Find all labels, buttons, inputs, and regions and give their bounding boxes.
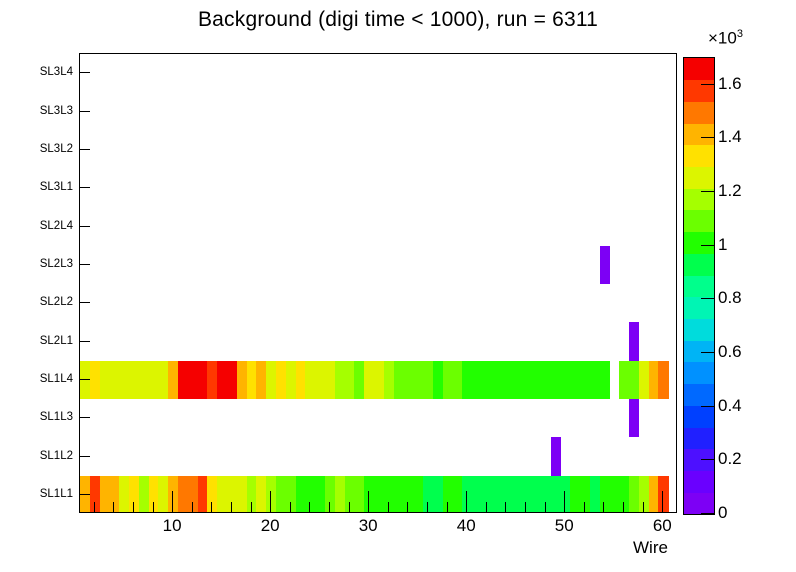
color-scale-band (684, 319, 714, 341)
heatmap-cell (237, 361, 247, 399)
heatmap-cell (492, 361, 502, 399)
heatmap-cell (511, 476, 521, 512)
y-axis-label-sl2l4: SL2L4 (3, 220, 73, 232)
heatmap-cell (188, 476, 198, 512)
heatmap-cell (296, 361, 306, 399)
heatmap-cell (639, 361, 649, 399)
heatmap-cell (502, 361, 512, 399)
heatmap-cell (315, 361, 325, 399)
heatmap-cell (374, 476, 384, 512)
y-axis-tick (79, 264, 90, 265)
heatmap-cell (600, 361, 610, 399)
heatmap-cell (443, 476, 453, 512)
heatmap-cell (256, 476, 266, 512)
heatmap-cell (100, 476, 110, 512)
x-axis-minor-tick (584, 502, 585, 513)
y-axis-label-sl3l1: SL3L1 (3, 181, 73, 193)
heatmap-cell (619, 476, 629, 512)
y-axis-tick (79, 417, 90, 418)
color-scale-label-0.8: 0.8 (718, 288, 742, 308)
heatmap-cell (217, 476, 227, 512)
x-axis-minor-tick (329, 502, 330, 513)
heatmap-cell (354, 361, 364, 399)
heatmap-cell (423, 476, 433, 512)
y-axis-tick (79, 379, 90, 380)
heatmap-cell (570, 476, 580, 512)
y-axis-label-sl1l4: SL1L4 (3, 373, 73, 385)
color-scale-bar (683, 57, 715, 515)
y-axis-tick (79, 494, 90, 495)
x-axis-minor-tick (251, 502, 252, 513)
heatmap-cell (521, 476, 531, 512)
heatmap-cell (315, 476, 325, 512)
z-exponent-label: ×103 (708, 28, 743, 49)
y-axis-tick (79, 226, 90, 227)
x-axis-minor-tick (427, 502, 428, 513)
color-scale-tick (701, 191, 714, 192)
heatmap-cell (433, 361, 443, 399)
color-scale-band (684, 471, 714, 493)
color-scale-tick (701, 137, 714, 138)
color-scale-band (684, 384, 714, 406)
color-scale-tick (701, 245, 714, 246)
x-axis-minor-tick (486, 502, 487, 513)
x-axis-minor-tick (192, 502, 193, 513)
heatmap-cell (629, 322, 639, 360)
heatmap-cell (560, 361, 570, 399)
color-scale-tick (701, 352, 714, 353)
heatmap-cell (649, 476, 659, 512)
heatmap-cell (404, 361, 414, 399)
x-axis-major-tick (368, 491, 369, 513)
heatmap-cell (276, 476, 286, 512)
color-scale-band (684, 123, 714, 145)
plot-frame (79, 53, 677, 513)
heatmap-cell (658, 361, 668, 399)
heatmap-cell (158, 361, 168, 399)
heatmap-cell (629, 361, 639, 399)
x-axis-minor-tick (603, 502, 604, 513)
heatmap-cell (502, 476, 512, 512)
y-axis-tick (79, 111, 90, 112)
heatmap-cell (345, 476, 355, 512)
heatmap-cell (227, 361, 237, 399)
heatmap-cell (305, 361, 315, 399)
heatmap-cell (443, 361, 453, 399)
color-scale-label-0.4: 0.4 (718, 396, 742, 416)
color-scale-tick (701, 298, 714, 299)
heatmap-cell (158, 476, 168, 512)
heatmap-cell (188, 361, 198, 399)
heatmap-cell (256, 361, 266, 399)
heatmap-cell (639, 476, 649, 512)
heatmap-cell (266, 476, 276, 512)
color-scale-band (684, 427, 714, 449)
heatmap-cell (462, 476, 472, 512)
heatmap-cell (541, 476, 551, 512)
color-scale-tick (701, 406, 714, 407)
heatmap-cell (305, 476, 315, 512)
heatmap-cell (492, 476, 502, 512)
x-axis-label-30: 30 (343, 516, 393, 536)
x-axis-minor-tick (94, 502, 95, 513)
heatmap-cell (619, 361, 629, 399)
heatmap-cell (560, 476, 570, 512)
heatmap-cell (168, 361, 178, 399)
heatmap-cell (149, 361, 159, 399)
heatmap-cells (80, 54, 676, 512)
color-scale-band (684, 405, 714, 427)
color-scale-band (684, 275, 714, 297)
heatmap-cell (629, 399, 639, 437)
heatmap-cell (629, 476, 639, 512)
x-axis-major-tick (466, 491, 467, 513)
heatmap-cell (119, 361, 129, 399)
plot-canvas: Background (digi time < 1000), run = 631… (0, 0, 796, 572)
color-scale-label-1.6: 1.6 (718, 74, 742, 94)
color-scale-label-1: 1 (718, 235, 727, 255)
heatmap-cell (266, 361, 276, 399)
heatmap-cell (207, 361, 217, 399)
heatmap-cell (129, 476, 139, 512)
heatmap-cell (521, 361, 531, 399)
y-axis-tick (79, 72, 90, 73)
x-axis-minor-tick (153, 502, 154, 513)
x-axis-minor-tick (231, 502, 232, 513)
y-axis-tick (79, 302, 90, 303)
heatmap-cell (609, 476, 619, 512)
heatmap-cell (139, 476, 149, 512)
heatmap-cell (541, 361, 551, 399)
heatmap-cell (90, 476, 100, 512)
heatmap-cell (139, 361, 149, 399)
heatmap-cell (590, 361, 600, 399)
heatmap-cell (374, 361, 384, 399)
x-axis-minor-tick (133, 502, 134, 513)
heatmap-cell (600, 476, 610, 512)
color-scale-tick (701, 513, 714, 514)
heatmap-cell (404, 476, 414, 512)
heatmap-cell (178, 361, 188, 399)
heatmap-cell (286, 476, 296, 512)
y-axis-label-sl3l3: SL3L3 (3, 105, 73, 117)
heatmap-cell (325, 476, 335, 512)
heatmap-cell (413, 361, 423, 399)
y-axis-tick (79, 341, 90, 342)
x-axis-minor-tick (388, 502, 389, 513)
x-axis-minor-tick (309, 502, 310, 513)
heatmap-cell (384, 361, 394, 399)
x-axis-minor-tick (113, 502, 114, 513)
x-axis-major-tick (662, 491, 663, 513)
color-scale-label-1.2: 1.2 (718, 181, 742, 201)
heatmap-cell (531, 361, 541, 399)
color-scale-band (684, 210, 714, 232)
heatmap-cell (649, 361, 659, 399)
color-scale-label-0: 0 (718, 503, 727, 523)
y-axis-label-sl2l3: SL2L3 (3, 258, 73, 270)
heatmap-cell (90, 361, 100, 399)
y-axis-label-sl3l2: SL3L2 (3, 143, 73, 155)
heatmap-cell (149, 476, 159, 512)
heatmap-cell (482, 476, 492, 512)
heatmap-cell (296, 476, 306, 512)
heatmap-cell (178, 476, 188, 512)
y-axis-label-sl1l3: SL1L3 (3, 411, 73, 423)
heatmap-cell (364, 476, 374, 512)
heatmap-cell (453, 361, 463, 399)
color-scale-band (684, 253, 714, 275)
heatmap-cell (394, 476, 404, 512)
chart-title: Background (digi time < 1000), run = 631… (0, 8, 796, 32)
heatmap-cell (511, 361, 521, 399)
heatmap-cell (119, 476, 129, 512)
heatmap-cell (345, 361, 355, 399)
heatmap-cell (658, 476, 668, 512)
y-axis-label-sl2l1: SL2L1 (3, 335, 73, 347)
y-axis-label-sl1l1: SL1L1 (3, 488, 73, 500)
heatmap-cell (462, 361, 472, 399)
heatmap-cell (551, 476, 561, 512)
heatmap-cell (198, 476, 208, 512)
heatmap-cell (276, 361, 286, 399)
x-axis-label-20: 20 (245, 516, 295, 536)
heatmap-cell (413, 476, 423, 512)
heatmap-cell (227, 476, 237, 512)
heatmap-cell (551, 361, 561, 399)
x-axis-title: Wire (633, 538, 668, 558)
color-scale-label-0.2: 0.2 (718, 449, 742, 469)
heatmap-cell (482, 361, 492, 399)
x-axis-minor-tick (623, 502, 624, 513)
heatmap-cell (247, 361, 257, 399)
color-scale-label-0.6: 0.6 (718, 342, 742, 362)
heatmap-cell (531, 476, 541, 512)
color-scale-band (684, 232, 714, 254)
heatmap-cell (600, 246, 610, 284)
x-axis-minor-tick (643, 502, 644, 513)
y-axis-label-sl3l4: SL3L4 (3, 66, 73, 78)
heatmap-cell (551, 437, 561, 475)
heatmap-cell (286, 361, 296, 399)
heatmap-cell (472, 361, 482, 399)
heatmap-cell (590, 476, 600, 512)
heatmap-cell (237, 476, 247, 512)
color-scale-band (684, 58, 714, 80)
heatmap-cell (423, 361, 433, 399)
heatmap-cell (168, 476, 178, 512)
heatmap-cell (580, 476, 590, 512)
heatmap-cell (384, 476, 394, 512)
y-axis-label-sl2l2: SL2L2 (3, 296, 73, 308)
x-axis-minor-tick (211, 502, 212, 513)
x-axis-label-10: 10 (147, 516, 197, 536)
heatmap-cell (198, 361, 208, 399)
heatmap-cell (207, 476, 217, 512)
heatmap-cell (580, 361, 590, 399)
y-axis-tick (79, 149, 90, 150)
color-scale-label-1.4: 1.4 (718, 127, 742, 147)
heatmap-cell (472, 476, 482, 512)
heatmap-cell (453, 476, 463, 512)
color-scale-tick (701, 459, 714, 460)
x-axis-major-tick (564, 491, 565, 513)
color-scale-band (684, 492, 714, 514)
heatmap-cell (325, 361, 335, 399)
x-axis-minor-tick (290, 502, 291, 513)
heatmap-cell (335, 476, 345, 512)
color-scale-band (684, 297, 714, 319)
color-scale-band (684, 101, 714, 123)
heatmap-cell (335, 361, 345, 399)
y-axis-tick (79, 187, 90, 188)
heatmap-cell (129, 361, 139, 399)
color-scale-band (684, 362, 714, 384)
x-axis-minor-tick (525, 502, 526, 513)
x-axis-minor-tick (505, 502, 506, 513)
y-axis-label-sl1l2: SL1L2 (3, 450, 73, 462)
x-axis-label-50: 50 (539, 516, 589, 536)
x-axis-label-40: 40 (441, 516, 491, 536)
heatmap-cell (394, 361, 404, 399)
x-axis-label-60: 60 (637, 516, 687, 536)
color-scale-tick (701, 84, 714, 85)
heatmap-cell (109, 476, 119, 512)
heatmap-cell (109, 361, 119, 399)
heatmap-cell (354, 476, 364, 512)
x-axis-minor-tick (447, 502, 448, 513)
heatmap-cell (217, 361, 227, 399)
heatmap-cell (433, 476, 443, 512)
y-axis-tick (79, 456, 90, 457)
heatmap-cell (364, 361, 374, 399)
x-axis-minor-tick (545, 502, 546, 513)
color-scale-band (684, 145, 714, 167)
heatmap-cell (570, 361, 580, 399)
x-axis-minor-tick (349, 502, 350, 513)
color-scale-band (684, 167, 714, 189)
x-axis-major-tick (270, 491, 271, 513)
heatmap-cell (247, 476, 257, 512)
heatmap-cell (100, 361, 110, 399)
x-axis-minor-tick (407, 502, 408, 513)
x-axis-major-tick (172, 491, 173, 513)
